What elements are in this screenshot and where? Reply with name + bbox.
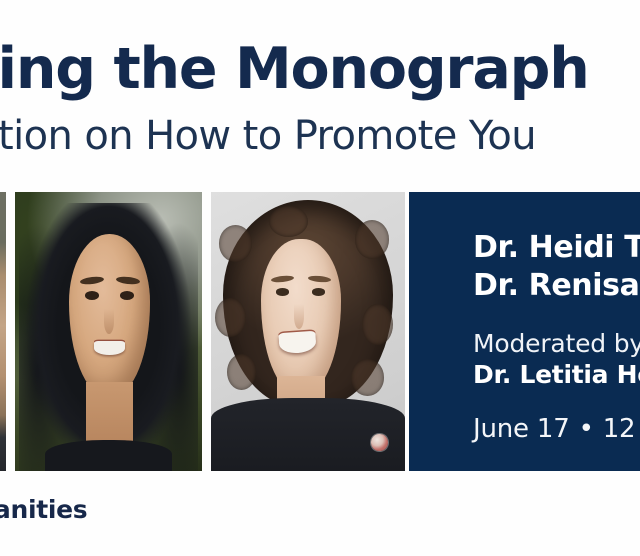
headshot-two-curl [215,298,246,337]
headshot-one-shirt [45,440,172,471]
moderator-block: Moderated by Dr. Letitia Her [473,328,640,390]
headline-block: eting the Monograph rsation on How to Pr… [0,0,640,185]
headshot-two-lapel-pin [371,434,387,451]
headshot-two-curl [269,206,308,237]
headshot-partial-left-backdrop [0,192,6,471]
speaker-name-2: Dr. Renisa [473,267,640,305]
event-poster: eting the Monograph rsation on How to Pr… [0,0,640,556]
poster-title: eting the Monograph [0,38,640,100]
headshot-two-eye-right [312,288,325,295]
event-info-panel: Dr. Heidi T Dr. Renisa Moderated by Dr. … [409,192,640,471]
headshot-two-nose [294,304,304,329]
headshot-partial-left [0,192,6,471]
headshot-two-curl [351,359,384,395]
headshot-speaker-one [15,192,202,471]
event-datetime: June 17•12 [473,413,640,445]
moderated-by-label: Moderated by [473,328,640,359]
speaker-name-1: Dr. Heidi T [473,229,640,267]
headshot-two-curl [219,225,252,261]
event-date: June 17 [473,414,570,444]
headshot-two-eye-left [276,288,289,295]
headshot-speaker-two [211,192,405,471]
headshot-one-neck [86,382,133,443]
headshot-two-curl [227,354,256,390]
headshot-speaker-two-image [211,192,405,471]
headshot-two-curl [355,220,390,259]
poster-subtitle: rsation on How to Promote You [0,112,640,160]
speaker-list: Dr. Heidi T Dr. Renisa [473,229,640,305]
headshot-one-eye-right [120,291,134,300]
moderator-name: Dr. Letitia Her [473,359,640,390]
headshot-speaker-one-image [15,192,202,471]
event-time: 12 [603,414,636,444]
headshot-partial-left-image [0,192,6,471]
datetime-separator-bullet-icon: • [570,413,603,445]
organization-name: Humanities [0,494,550,526]
